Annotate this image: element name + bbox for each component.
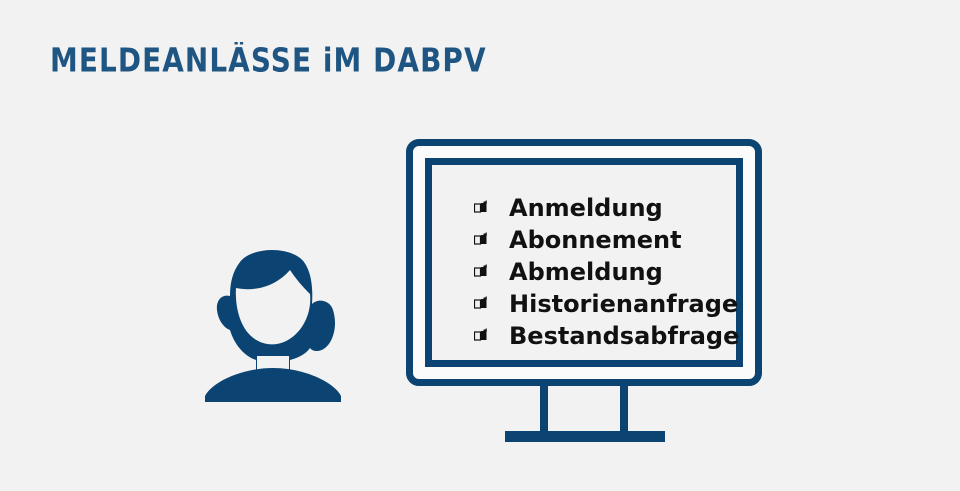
mailbox-flag-icon [474, 232, 488, 246]
monitor-stand-leg-left [540, 386, 548, 435]
list-item: Bestandsabfrage [474, 320, 739, 352]
female-user-avatar-icon [200, 244, 346, 404]
list-item-label: Abonnement [509, 226, 682, 254]
list-item: Abmeldung [474, 256, 739, 288]
monitor-screen-bezel: Anmeldung Abonnement [425, 158, 743, 367]
page-title: MELDEANLÄSSE iM DABPV [50, 42, 487, 80]
monitor-stand-base [505, 431, 665, 442]
mailbox-flag-icon [474, 328, 488, 342]
list-item: Historienanfrage [474, 288, 739, 320]
list-item-label: Abmeldung [509, 258, 663, 286]
meldeanlaesse-list: Anmeldung Abonnement [474, 192, 739, 352]
monitor-stand-leg-right [620, 386, 628, 435]
mailbox-flag-icon [474, 296, 488, 310]
list-item-label: Bestandsabfrage [509, 322, 739, 350]
list-item: Anmeldung [474, 192, 739, 224]
list-item: Abonnement [474, 224, 739, 256]
slide-canvas: MELDEANLÄSSE iM DABPV [0, 0, 960, 491]
mailbox-flag-icon [474, 200, 488, 214]
mailbox-flag-icon [474, 264, 488, 278]
monitor-graphic: Anmeldung Abonnement [406, 139, 762, 386]
list-item-label: Anmeldung [509, 194, 663, 222]
list-item-label: Historienanfrage [509, 290, 738, 318]
